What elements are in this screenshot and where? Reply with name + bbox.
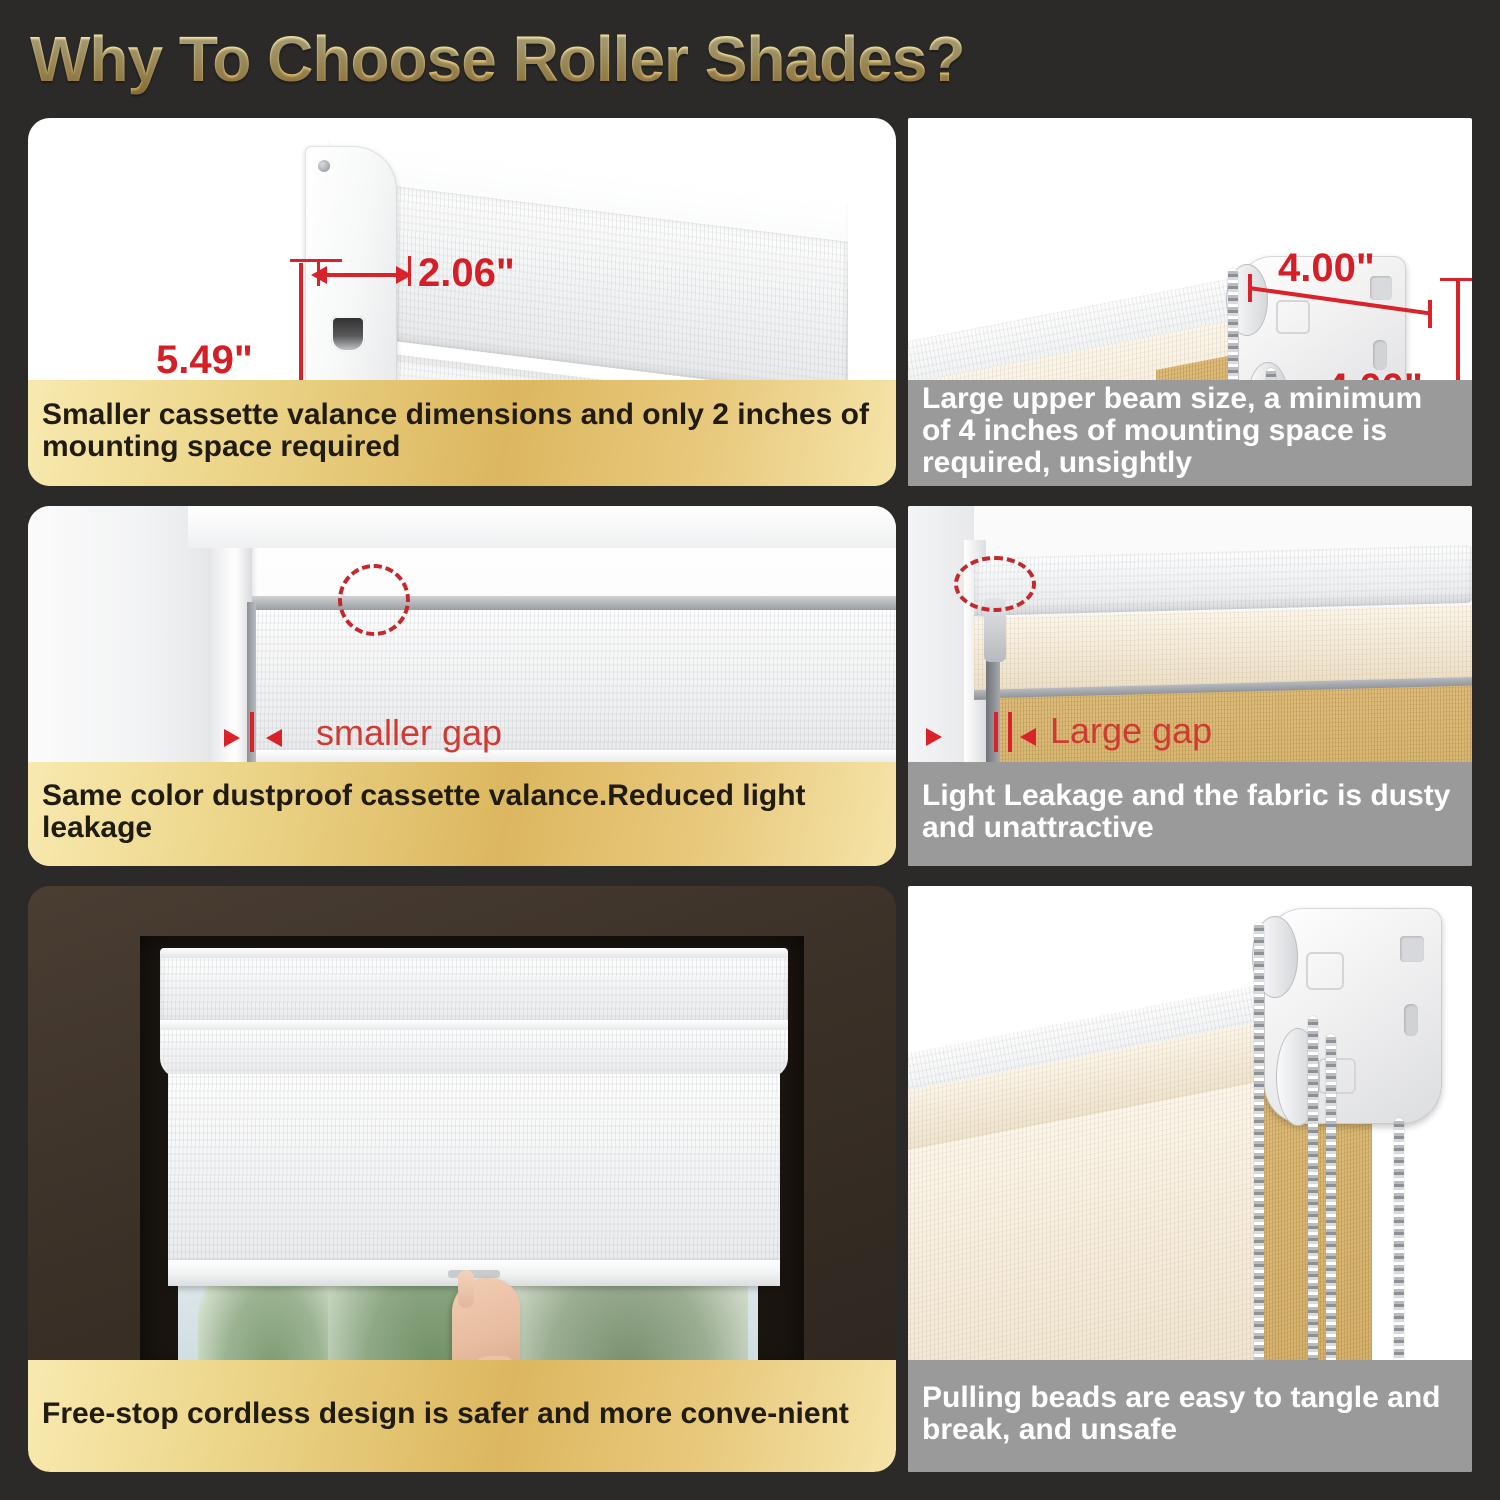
- caption-bad-beam: Large upper beam size, a minimum of 4 in…: [908, 380, 1472, 486]
- panel-bad-beam: 4.00" 4.00" Large upper beam size, a min…: [908, 118, 1472, 486]
- roller-tube: [974, 545, 1472, 616]
- panel-bad-beads: Pulling beads are easy to tangle and bre…: [908, 886, 1472, 1472]
- highlight-ring: [338, 564, 410, 636]
- shade-fabric-white: [974, 605, 1472, 690]
- panel-bad-gap: Large gap Light Leakage and the fabric i…: [908, 506, 1472, 866]
- valance-face: [160, 958, 788, 1024]
- title-bar: Why To Choose Roller Shades?: [0, 0, 1500, 110]
- bracket-slot-icon: [1404, 1004, 1418, 1036]
- width-extension-left: [317, 260, 320, 286]
- panel-good-cordless: Free-stop cordless design is safer and m…: [28, 886, 896, 1472]
- bead-chain[interactable]: [1254, 922, 1264, 1436]
- shade-fabric: [168, 1074, 780, 1274]
- caption-good-cordless: Free-stop cordless design is safer and m…: [28, 1360, 896, 1472]
- gap-tick: [1008, 712, 1012, 752]
- bracket-slot-icon: [1400, 936, 1424, 962]
- bottom-rail-grip-icon[interactable]: [448, 1270, 500, 1278]
- gap-arrow-right: [266, 729, 282, 747]
- caption-good-gap: Same color dustproof cassette valance.Re…: [28, 762, 896, 866]
- page-title: Why To Choose Roller Shades?: [30, 22, 964, 96]
- caption-text: Large upper beam size, a minimum of 4 in…: [922, 383, 1458, 478]
- bracket-emboss-icon: [1318, 1058, 1356, 1094]
- height-extension-top: [290, 259, 342, 262]
- beam-height-tick-top: [1440, 278, 1472, 281]
- window-frame-top: [188, 506, 896, 548]
- bracket-emboss-icon: [1276, 300, 1310, 334]
- gap-tick: [250, 712, 254, 752]
- panel-good-gap: smaller gap Same color dustproof cassett…: [28, 506, 896, 866]
- gap-callout-label: Large gap: [1050, 710, 1212, 752]
- caption-text: Pulling beads are easy to tangle and bre…: [922, 1382, 1458, 1446]
- beam-width-dimension-label: 4.00": [1278, 246, 1375, 291]
- screw-icon: [318, 160, 330, 172]
- width-extension-right: [408, 256, 411, 286]
- finger-icon: [458, 1270, 474, 1308]
- caption-text: Free-stop cordless design is safer and m…: [42, 1398, 849, 1430]
- gap-arrow-right: [1020, 728, 1036, 746]
- height-dimension-label: 5.49": [156, 338, 253, 383]
- caption-text: Smaller cassette valance dimensions and …: [42, 399, 882, 463]
- panel-good-cassette: 2.06" 5.49" Smaller cassette valance dim…: [28, 118, 896, 486]
- width-dimension-label: 2.06": [418, 251, 515, 296]
- caption-text: Same color dustproof cassette valance.Re…: [42, 780, 882, 844]
- caption-bad-beads: Pulling beads are easy to tangle and bre…: [908, 1360, 1472, 1472]
- beam-width-tick-left: [1248, 274, 1252, 302]
- gap-tick: [994, 712, 998, 752]
- highlight-ring: [954, 556, 1036, 612]
- beam-width-tick-right: [1428, 300, 1432, 328]
- gap-arrow-left: [926, 728, 942, 746]
- caption-good-cassette: Smaller cassette valance dimensions and …: [28, 380, 896, 486]
- valance-roll: [160, 1030, 788, 1078]
- caption-text: Light Leakage and the fabric is dusty an…: [922, 780, 1458, 844]
- bracket-emboss-icon: [1306, 952, 1344, 990]
- clutch-opening-icon: [331, 316, 365, 352]
- caption-bad-gap: Light Leakage and the fabric is dusty an…: [908, 762, 1472, 866]
- gap-callout-label: smaller gap: [316, 712, 502, 754]
- valance-lip: [160, 1020, 788, 1030]
- gap-arrow-right-in: [224, 729, 240, 747]
